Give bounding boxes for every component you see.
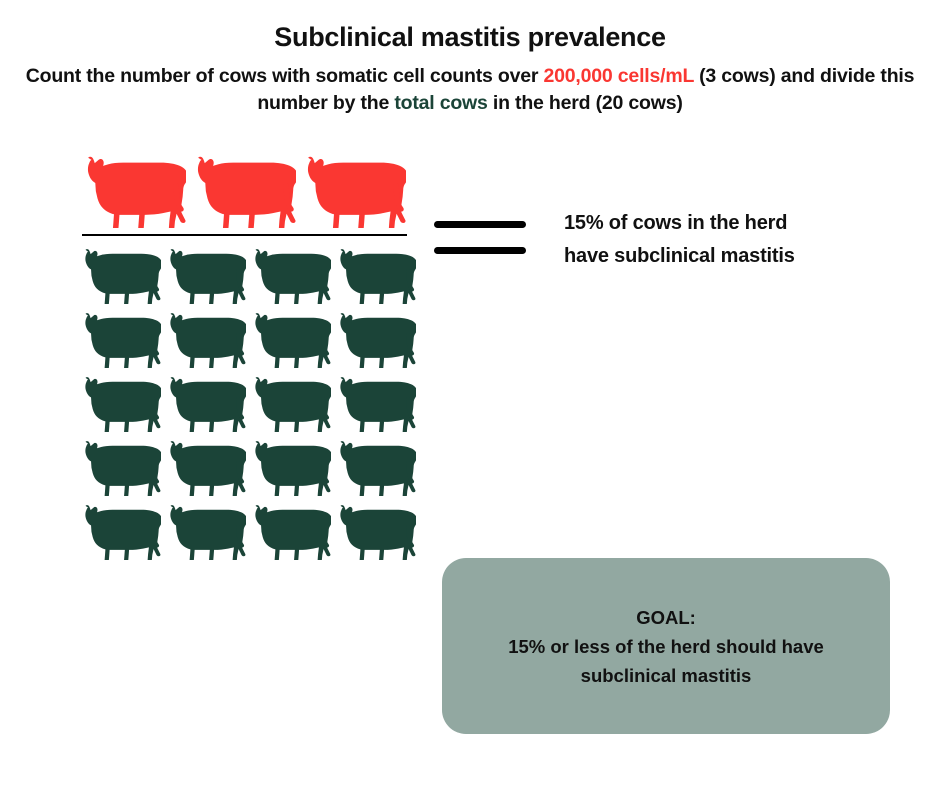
healthy-cow-icon: [161, 308, 246, 368]
healthy-cow-icon: [161, 372, 246, 432]
healthy-cow-icon: [246, 500, 331, 560]
healthy-cow-icon: [331, 308, 416, 368]
page-subtitle: Count the number of cows with somatic ce…: [0, 63, 940, 117]
healthy-cow-icon: [331, 500, 416, 560]
healthy-cow-icon: [331, 372, 416, 432]
healthy-cow-icon: [76, 244, 161, 304]
fraction-numerator: [76, 150, 416, 228]
equals-bar-top: [434, 221, 526, 228]
denominator-cow-row: [76, 500, 416, 560]
denominator-cow-row: [76, 244, 416, 304]
healthy-cow-icon: [161, 436, 246, 496]
result-statement: 15% of cows in the herd have subclinical…: [564, 207, 894, 273]
healthy-cow-icon: [76, 372, 161, 432]
fraction-divider-rule: [82, 234, 407, 236]
healthy-cow-icon: [246, 244, 331, 304]
header: Subclinical mastitis prevalence Count th…: [0, 20, 940, 117]
infected-cow-icon: [296, 150, 406, 228]
denominator-cow-row: [76, 372, 416, 432]
infected-cow-icon: [186, 150, 296, 228]
result-line-2: have subclinical mastitis: [564, 240, 894, 273]
goal-line-2: subclinical mastitis: [581, 661, 752, 690]
subtitle-text-part-1: Count the number of cows with somatic ce…: [26, 65, 544, 87]
page-title: Subclinical mastitis prevalence: [0, 20, 940, 54]
healthy-cow-icon: [331, 436, 416, 496]
goal-label: GOAL:: [636, 603, 696, 632]
infected-cow-icon: [76, 150, 186, 228]
healthy-cow-icon: [76, 500, 161, 560]
subtitle-total-cows-highlight: total cows: [394, 92, 487, 114]
equals-bar-bottom: [434, 247, 526, 254]
goal-callout-box: GOAL: 15% or less of the herd should hav…: [442, 558, 890, 734]
goal-line-1: 15% or less of the herd should have: [508, 632, 824, 661]
prevalence-fraction: [76, 150, 416, 564]
healthy-cow-icon: [331, 244, 416, 304]
fraction-denominator: [76, 244, 416, 560]
equals-sign-icon: [434, 221, 526, 254]
healthy-cow-icon: [246, 308, 331, 368]
subtitle-text-part-3: in the herd (20 cows): [488, 92, 683, 114]
healthy-cow-icon: [246, 372, 331, 432]
subtitle-threshold-highlight: 200,000 cells/mL: [543, 65, 693, 87]
numerator-cow-row: [76, 150, 416, 228]
healthy-cow-icon: [246, 436, 331, 496]
healthy-cow-icon: [161, 500, 246, 560]
healthy-cow-icon: [76, 308, 161, 368]
denominator-cow-row: [76, 436, 416, 496]
healthy-cow-icon: [76, 436, 161, 496]
denominator-cow-row: [76, 308, 416, 368]
healthy-cow-icon: [161, 244, 246, 304]
result-line-1: 15% of cows in the herd: [564, 207, 894, 240]
infographic-canvas: Subclinical mastitis prevalence Count th…: [0, 0, 940, 788]
